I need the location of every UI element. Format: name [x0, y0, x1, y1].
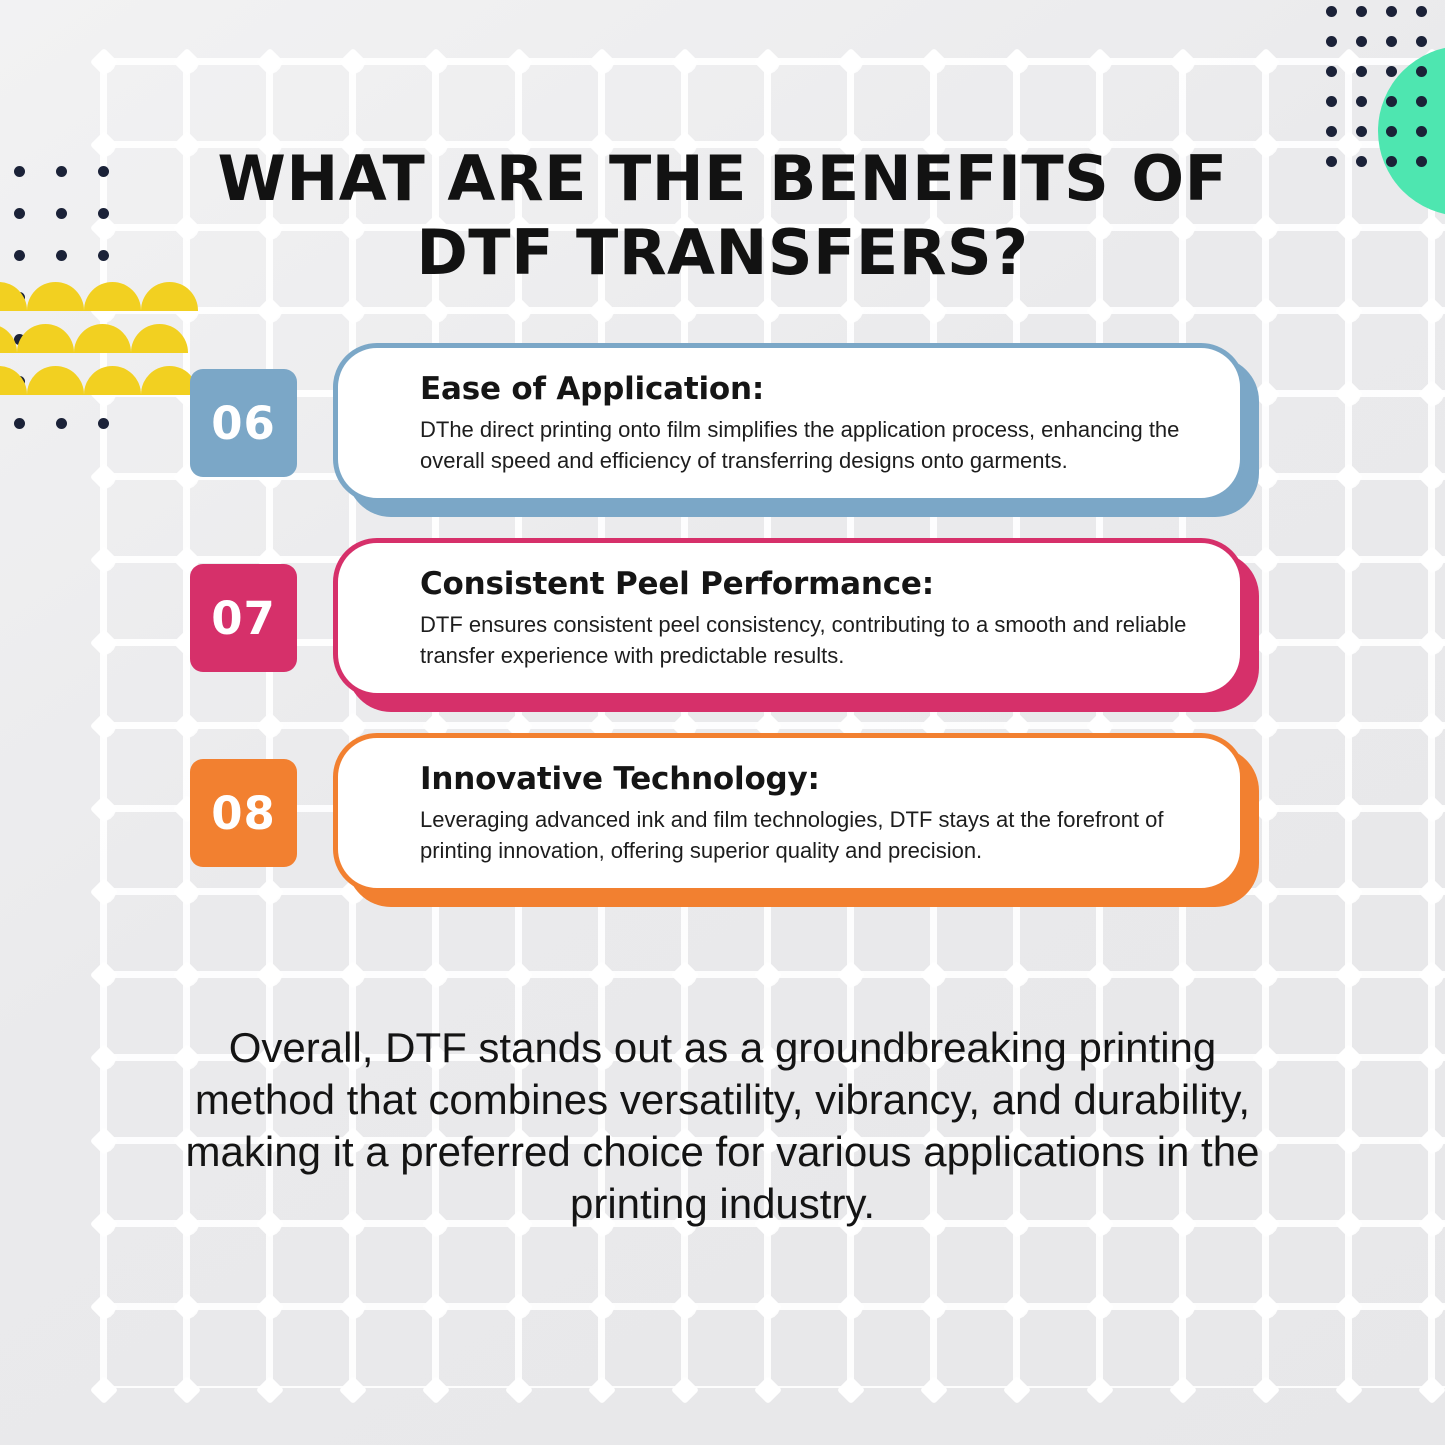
benefit-number-badge-08: 08 — [190, 759, 297, 867]
benefit-item-06: 06 Ease of Application: DThe direct prin… — [0, 343, 1445, 503]
infographic-poster: WHAT ARE THE BENEFITS OF DTF TRANSFERS? … — [0, 0, 1445, 1445]
mint-circle-decoration — [1378, 46, 1445, 216]
benefit-title-07: Consistent Peel Performance: — [420, 565, 1200, 603]
benefit-item-08: 08 Innovative Technology: Leveraging adv… — [0, 733, 1445, 893]
benefit-card-shell-08: Innovative Technology: Leveraging advanc… — [333, 733, 1245, 893]
benefit-body-06: DThe direct printing onto film simplifie… — [420, 414, 1200, 476]
benefit-number-badge-07: 07 — [190, 564, 297, 672]
benefit-body-07: DTF ensures consistent peel consistency,… — [420, 609, 1200, 671]
benefit-item-07: 07 Consistent Peel Performance: DTF ensu… — [0, 538, 1445, 698]
benefits-card-list: 06 Ease of Application: DThe direct prin… — [0, 343, 1445, 928]
benefit-card-07: Consistent Peel Performance: DTF ensures… — [333, 538, 1245, 698]
benefit-card-06: Ease of Application: DThe direct printin… — [333, 343, 1245, 503]
page-title: WHAT ARE THE BENEFITS OF DTF TRANSFERS? — [150, 142, 1295, 290]
benefit-body-08: Leveraging advanced ink and film technol… — [420, 804, 1200, 866]
closing-paragraph: Overall, DTF stands out as a groundbreak… — [160, 1022, 1285, 1230]
benefit-card-shell-07: Consistent Peel Performance: DTF ensures… — [333, 538, 1245, 698]
benefit-title-06: Ease of Application: — [420, 370, 1200, 408]
benefit-number-badge-06: 06 — [190, 369, 297, 477]
benefit-title-08: Innovative Technology: — [420, 760, 1200, 798]
benefit-card-shell-06: Ease of Application: DThe direct printin… — [333, 343, 1245, 503]
benefit-card-08: Innovative Technology: Leveraging advanc… — [333, 733, 1245, 893]
